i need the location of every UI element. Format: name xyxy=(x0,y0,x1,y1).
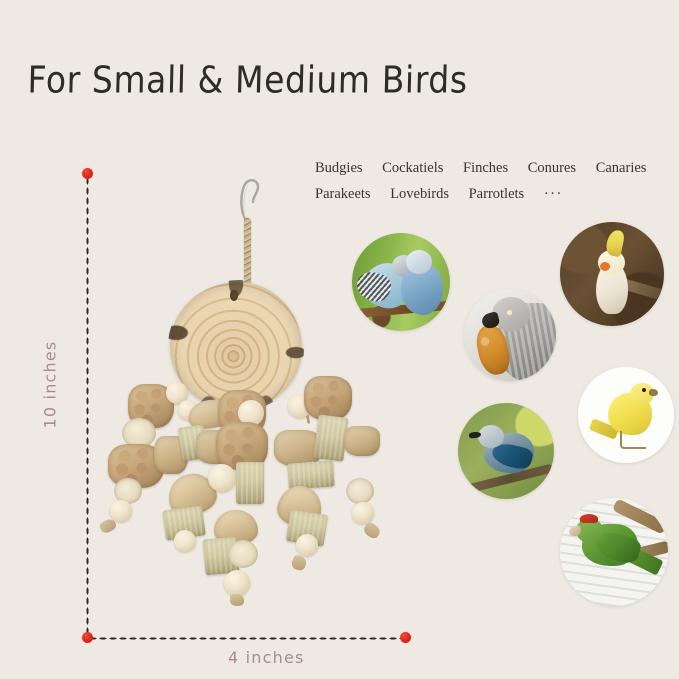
tanager-head xyxy=(478,425,504,448)
cockatiel-cheek-patch xyxy=(600,262,610,271)
photo-background xyxy=(352,233,450,331)
toy-bead xyxy=(296,534,318,556)
species-cockatiels: Cockatiels xyxy=(382,160,443,176)
photo-background xyxy=(458,403,554,499)
photo-background xyxy=(578,367,674,463)
photo-canary xyxy=(578,367,674,463)
cockatiel-crest xyxy=(604,229,625,258)
species-conures: Conures xyxy=(528,160,576,176)
width-dimension-label: 4 inches xyxy=(228,648,305,667)
photo-background xyxy=(464,289,556,381)
toy-tassel xyxy=(290,554,308,572)
canary-legs xyxy=(620,431,646,449)
photo-blue-tanager xyxy=(458,403,554,499)
photo-budgies-pair xyxy=(352,233,450,331)
toy-pinecone xyxy=(304,376,352,420)
toy-cut-branch xyxy=(228,540,258,568)
horizontal-guide-line xyxy=(88,637,406,640)
canary-eye xyxy=(642,388,646,392)
amazon-red-crown xyxy=(580,514,598,523)
height-dimension-label: 10 inches xyxy=(41,330,60,440)
toy-bead xyxy=(224,570,250,596)
toy-bamboo xyxy=(236,462,264,504)
infographic-canvas: For Small & Medium Birds Budgies Cockati… xyxy=(0,0,679,679)
toy-bead xyxy=(110,500,132,522)
marker-bottom-left xyxy=(82,632,93,643)
toy-cut-branch xyxy=(346,478,374,504)
parrot-eye xyxy=(506,309,513,316)
toy-wood-chunk xyxy=(344,426,380,456)
species-finches: Finches xyxy=(463,160,508,176)
species-canaries: Canaries xyxy=(596,160,647,176)
budgie-right-head xyxy=(406,250,432,274)
vertical-guide-line xyxy=(86,176,89,638)
toy-bead xyxy=(208,464,236,492)
photo-background xyxy=(560,222,664,326)
species-row-1: Budgies Cockatiels Finches Conures Canar… xyxy=(315,160,646,177)
toy-bead xyxy=(174,530,196,552)
species-budgies: Budgies xyxy=(315,160,363,176)
page-title: For Small & Medium Birds xyxy=(27,58,468,102)
disc-string-hole xyxy=(230,290,238,301)
photo-background xyxy=(560,498,668,606)
marker-bottom-right xyxy=(400,632,411,643)
species-ellipsis: ··· xyxy=(544,186,563,202)
toy-tassel xyxy=(230,594,244,606)
photo-amazon-parrot xyxy=(560,498,668,606)
photo-african-grey-parrot xyxy=(464,289,556,381)
canary-beak xyxy=(649,389,658,396)
species-parrotlets: Parrotlets xyxy=(469,186,525,202)
toy-bead xyxy=(352,502,374,524)
photo-cockatiel xyxy=(560,222,664,326)
